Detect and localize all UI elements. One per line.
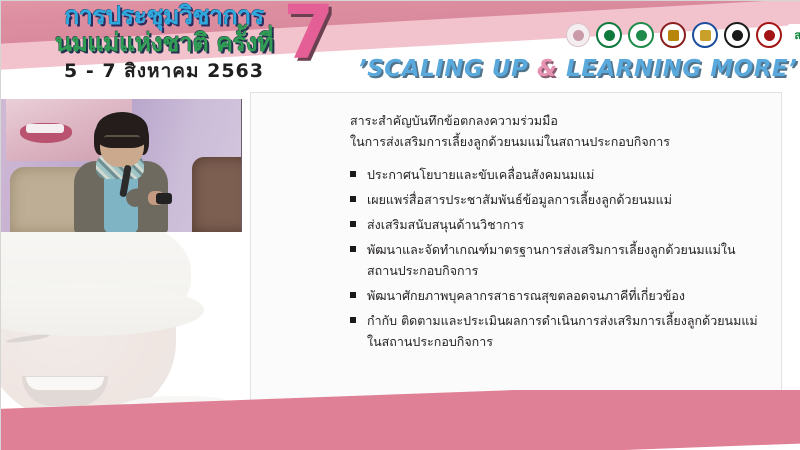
bullet-square-icon: [350, 246, 356, 252]
logo-national-health-security-icon: [756, 22, 782, 48]
list-item: ประกาศนโยบายและขับเคลื่อนสังคมนมแม่: [350, 164, 760, 185]
lead-line-2: ในการส่งเสริมการเลี้ยงลูกด้วยนมแม่ในสถาน…: [350, 134, 670, 149]
slide-header-banner: การประชุมวิชาการ นมแม่แห่งชาติ ครั้งที่ …: [0, 0, 800, 100]
list-item: กำกับ ติดตามและประเมินผลการดำเนินการส่งเ…: [350, 310, 760, 352]
logo-ministry-public-health-green-icon: [596, 22, 622, 48]
list-item: พัฒนาศักยภาพบุคลากรสาธารณสุขตลอดจนภาคีที…: [350, 285, 760, 306]
logo-royal-patronage-icon: [566, 23, 590, 47]
bullet-square-icon: [350, 196, 356, 202]
list-item: ส่งเสริมสนับสนุนด้านวิชาการ: [350, 214, 760, 235]
child-teeth: [26, 377, 104, 390]
logo-mark: [573, 30, 584, 41]
slide-footer-wedge: [0, 390, 800, 450]
tagline-ampersand: &: [537, 56, 558, 82]
list-item-text: ส่งเสริมสนับสนุนด้านวิชาการ: [367, 217, 524, 232]
list-item-text: ประกาศนโยบายและขับเคลื่อนสังคมนมแม่: [367, 167, 594, 182]
list-item: พัฒนาและจัดทำเกณฑ์มาตรฐานการส่งเสริมการเ…: [350, 239, 760, 281]
conference-tagline: ’SCALING UP & LEARNING MORE’: [358, 56, 797, 82]
logo-department-health-green-icon: [628, 22, 654, 48]
conference-title-line1: การประชุมวิชาการ: [14, 2, 314, 29]
sponsor-logo-strip: สสส: [566, 22, 800, 48]
logo-royal-thai-government-icon: [692, 22, 718, 48]
speaker-glasses-icon: [104, 135, 140, 146]
armchair-right: [192, 157, 242, 232]
slide-lead-paragraph: สาระสำคัญบันทึกข้อตกลงความร่วมมือ ในการส…: [350, 110, 760, 152]
logo-mark: [732, 30, 743, 41]
tagline-suffix: LEARNING MORE’: [557, 56, 797, 82]
list-item-text: กำกับ ติดตามและประเมินผลการดำเนินการส่งเ…: [367, 313, 758, 349]
bullet-square-icon: [350, 317, 356, 323]
presenter-remote-icon: [156, 193, 172, 204]
logo-mark: [604, 30, 615, 41]
footer-wedge-dark: [0, 390, 800, 450]
list-item-text: เผยแพร่สื่อสารประชาสัมพันธ์ข้อมูลการเลี้…: [367, 192, 672, 207]
list-item: เผยแพร่สื่อสารประชาสัมพันธ์ข้อมูลการเลี้…: [350, 189, 760, 210]
key-points-list: ประกาศนโยบายและขับเคลื่อนสังคมนมแม่ เผยแ…: [350, 164, 760, 352]
bullet-square-icon: [350, 292, 356, 298]
list-item-text: พัฒนาศักยภาพบุคลากรสาธารณสุขตลอดจนภาคีที…: [367, 288, 685, 303]
conference-edition-number: 7: [283, 0, 335, 70]
conference-title-line2: นมแม่แห่งชาติ ครั้งที่: [14, 29, 314, 57]
logo-mark: [668, 30, 679, 41]
presentation-slide: การประชุมวิชาการ นมแม่แห่งชาติ ครั้งที่ …: [0, 0, 800, 450]
conference-title-block: การประชุมวิชาการ นมแม่แห่งชาติ ครั้งที่ …: [14, 2, 314, 83]
conference-date: 5 - 7 สิงหาคม 2563: [14, 59, 314, 83]
lead-line-1: สาระสำคัญบันทึกข้อตกลงความร่วมมือ: [350, 113, 558, 128]
logo-mark: [700, 30, 711, 41]
slide-body-content: สาระสำคัญบันทึกข้อตกลงความร่วมมือ ในการส…: [350, 110, 760, 356]
poster-teeth: [26, 124, 64, 133]
logo-mark: [764, 30, 775, 41]
logo-thai-breastfeeding-centre-icon: [724, 22, 750, 48]
logo-ministry-labour-icon: [660, 22, 686, 48]
list-item-text: พัฒนาและจัดทำเกณฑ์มาตรฐานการส่งเสริมการเ…: [367, 242, 736, 278]
bullet-square-icon: [350, 171, 356, 177]
bullet-square-icon: [350, 221, 356, 227]
tagline-prefix: ’SCALING UP: [358, 56, 537, 82]
speaker-video-feed[interactable]: [0, 99, 242, 232]
logo-thaihealth-sss-icon: สสส: [788, 24, 800, 46]
logo-mark: [636, 30, 647, 41]
